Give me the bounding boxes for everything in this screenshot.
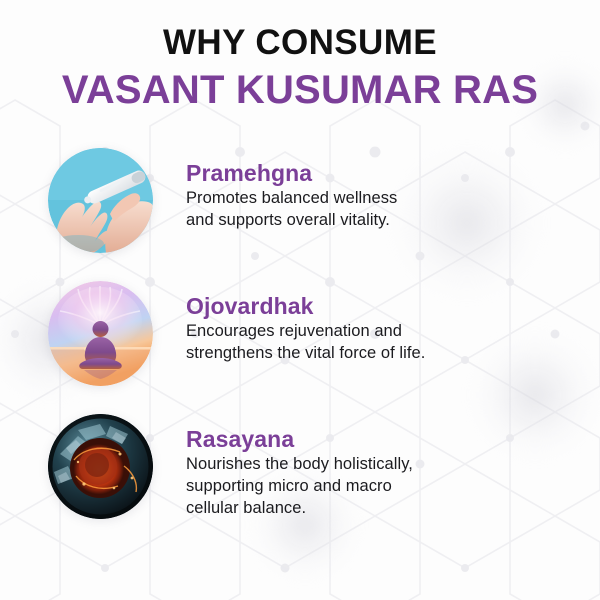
- page-title-line-1: WHY CONSUME: [0, 24, 600, 62]
- benefit-text-rasayana: Rasayana Nourishes the body holistically…: [153, 414, 413, 520]
- poster-root: WHY CONSUME VASANT KUSUMAR RAS: [0, 0, 600, 600]
- benefit-title: Ojovardhak: [186, 293, 425, 319]
- benefit-text-ojovardhak: Ojovardhak Encourages rejuvenation and s…: [153, 281, 425, 365]
- benefit-item-pramehgna: Pramehgna Promotes balanced wellness and…: [0, 148, 600, 253]
- poster-header: WHY CONSUME VASANT KUSUMAR RAS: [0, 24, 600, 113]
- benefit-image-ojovardhak: [48, 281, 153, 386]
- benefit-list: Pramehgna Promotes balanced wellness and…: [0, 148, 600, 520]
- page-title-line-2: VASANT KUSUMAR RAS: [0, 68, 600, 113]
- benefit-image-pramehgna: [48, 148, 153, 253]
- benefit-description: Encourages rejuvenation and strengthens …: [186, 321, 425, 365]
- benefit-title: Rasayana: [186, 426, 413, 452]
- benefit-description: Promotes balanced wellness and supports …: [186, 188, 397, 232]
- meditating-figure-icon: [48, 281, 153, 386]
- hands-glucometer-icon: [48, 148, 153, 253]
- benefit-text-pramehgna: Pramehgna Promotes balanced wellness and…: [153, 148, 397, 232]
- benefit-item-ojovardhak: Ojovardhak Encourages rejuvenation and s…: [0, 281, 600, 386]
- benefit-title: Pramehgna: [186, 160, 397, 186]
- benefit-description: Nourishes the body holistically, support…: [186, 454, 413, 520]
- cellular-energy-sphere-icon: [48, 414, 153, 519]
- benefit-image-rasayana: [48, 414, 153, 519]
- benefit-item-rasayana: Rasayana Nourishes the body holistically…: [0, 414, 600, 520]
